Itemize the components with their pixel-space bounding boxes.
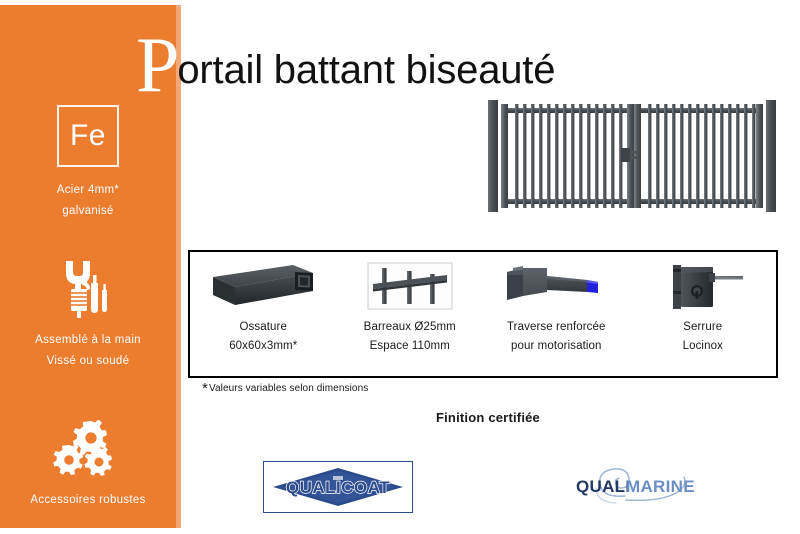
- spec-item-crossbar-line2: pour motorisation: [507, 337, 606, 356]
- page-title: P ortail battant biseauté: [136, 26, 557, 88]
- spec-item-frame: Ossature 60x60x3mm*: [190, 252, 337, 376]
- sidebar-feature-assembly-line1: Assemblé à la main: [0, 330, 176, 351]
- wrench-tools-icon: [0, 258, 176, 320]
- sidebar-feature-assembly-line2: Vissé ou soudé: [0, 351, 176, 372]
- sidebar-feature-assembly: Assemblé à la main Vissé ou soudé: [0, 258, 176, 372]
- specifications-box: Ossature 60x60x3mm*: [188, 250, 778, 378]
- footnote: *Valeurs variables selon dimensions: [202, 380, 368, 397]
- page-title-text: ortail battant biseauté: [177, 48, 555, 93]
- spec-item-lock-line2: Locinox: [683, 337, 723, 356]
- bars-spacing-icon: [367, 260, 453, 312]
- lock-icon: [655, 260, 751, 312]
- spec-item-crossbar: Traverse renforcée pour motorisation: [483, 252, 630, 376]
- sidebar-feature-steel-line2: galvanisé: [0, 201, 176, 222]
- qualicoat-logo: QUALICOAT: [263, 461, 413, 513]
- spec-item-crossbar-line1: Traverse renforcée: [507, 318, 606, 337]
- spec-item-lock-line1: Serrure: [683, 318, 723, 337]
- spec-item-bars-line2: Espace 110mm: [364, 337, 456, 356]
- spec-item-frame-line2: 60x60x3mm*: [229, 337, 297, 356]
- qualicoat-wordmark: QUALICOAT: [286, 478, 390, 497]
- sidebar-feature-accessories: Accessoires robustes: [0, 418, 176, 511]
- sidebar-feature-steel: Fe Acier 4mm* galvanisé: [0, 105, 176, 222]
- spec-item-lock: Serrure Locinox: [630, 252, 777, 376]
- spec-item-bars-line1: Barreaux Ø25mm: [364, 318, 456, 337]
- fe-element-icon: Fe: [57, 105, 119, 167]
- footnote-text: Valeurs variables selon dimensions: [209, 383, 368, 394]
- footnote-asterisk: *: [202, 380, 208, 397]
- spec-item-frame-line1: Ossature: [229, 318, 297, 337]
- reinforced-crossbar-motor-icon: [501, 260, 611, 312]
- sidebar-feature-steel-line1: Acier 4mm*: [0, 180, 176, 201]
- double-swing-gate-icon: [482, 96, 782, 216]
- fe-symbol-label: Fe: [70, 119, 106, 153]
- sidebar-feature-accessories-line1: Accessoires robustes: [0, 490, 176, 511]
- page-title-initial: P: [136, 34, 179, 96]
- gears-icon: [0, 418, 176, 480]
- finition-certifiee-label: Finition certifiée: [188, 410, 788, 425]
- steel-tube-profile-icon: [209, 260, 317, 312]
- qualimarine-wordmark-bold: QUALI: [576, 477, 630, 496]
- qualimarine-logo: QUALI MARINE: [568, 462, 718, 512]
- spec-item-bars: Barreaux Ø25mm Espace 110mm: [337, 252, 484, 376]
- qualimarine-wordmark-light: MARINE: [626, 477, 695, 496]
